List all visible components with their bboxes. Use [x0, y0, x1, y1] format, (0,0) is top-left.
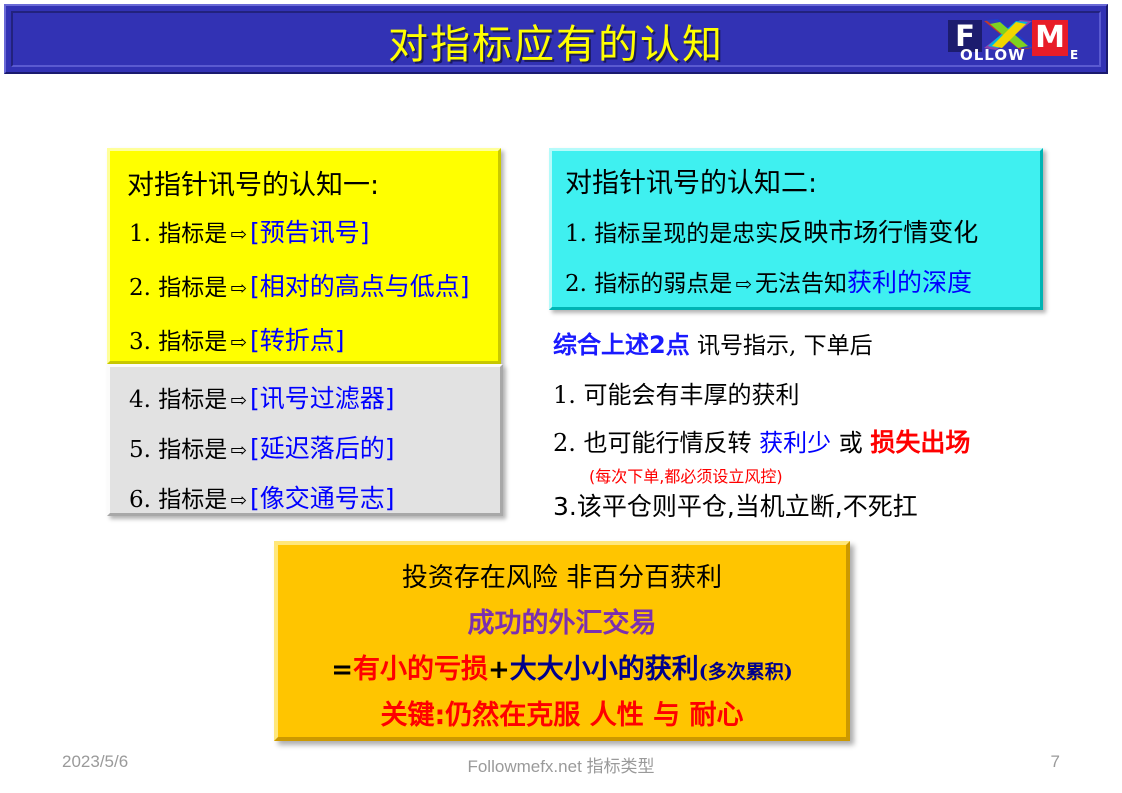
list-item-lead: 1. 指标呈现的是忠实 — [565, 214, 778, 248]
footer-center-label: Followmefx.net 指标类型 — [0, 752, 1122, 777]
gold-plus-sign: + — [488, 655, 510, 685]
notes-parenthetical: (每次下单,都必须设立风控) — [589, 463, 783, 487]
list-item-lead: 6. 指标是 — [129, 480, 227, 514]
list-item-emphasis: [相对的高点与低点] — [250, 267, 470, 303]
panel-summary-gold: 投资存在风险 非百分百获利 成功的外汇交易 =有小的亏损+大大小小的获利(多次累… — [274, 541, 850, 741]
notes-item-1: 1. 可能会有丰厚的获利 — [553, 375, 800, 410]
right-arrow-icon: ⇨ — [227, 330, 250, 354]
notes-item-3: 3.该平仓则平仓,当机立断,不死扛 — [553, 487, 918, 523]
panel-cognition-one: 对指针讯号的认知一: 1. 指标是 ⇨ [预告讯号] 2. 指标是 ⇨ [相对的… — [107, 148, 501, 364]
notes-item-2-blue: 获利少 — [759, 429, 831, 457]
gold-line-1: 投资存在风险 非百分百获利 — [278, 557, 846, 594]
notes-item-2: 2. 也可能行情反转 获利少 或 损失出场 — [553, 423, 970, 459]
list-item: 6. 指标是 ⇨ [像交通号志] — [129, 479, 395, 515]
gold-line-4: 关键:仍然在克服 人性 与 耐心 — [278, 693, 846, 732]
list-item-lead: 3. 指标是 — [129, 322, 227, 356]
right-arrow-icon: ⇨ — [227, 488, 250, 512]
list-item: 2. 指标是 ⇨ [相对的高点与低点] — [129, 267, 470, 303]
list-item-emphasis: 获利的深度 — [847, 263, 972, 299]
notes-summary-highlight: 综合上述2点 — [553, 331, 690, 359]
panel-yellow-heading: 对指针讯号的认知一: — [127, 163, 379, 202]
list-item-lead: 1. 指标是 — [129, 214, 227, 248]
list-item-mid: 无法告知 — [755, 264, 847, 298]
gold-equals-sign: = — [331, 655, 353, 685]
list-item: 1. 指标呈现的是忠实 反映市场行情变化 — [565, 213, 978, 249]
gold-profit-note: (多次累积) — [699, 661, 793, 683]
list-item: 4. 指标是 ⇨ [讯号过滤器] — [129, 379, 395, 415]
slide-title-banner: 对指标应有的认知 F M OLLOW E — [4, 4, 1108, 74]
right-arrow-icon: ⇨ — [227, 222, 250, 246]
notes-summary-rest: 讯号指示, 下单后 — [690, 333, 873, 359]
list-item-emphasis: [讯号过滤器] — [250, 379, 395, 415]
gold-loss-text: 有小的亏损 — [353, 654, 488, 685]
slide-footer: 2023/5/6 Followmefx.net 指标类型 7 — [0, 740, 1122, 793]
list-item: 3. 指标是 ⇨ [转折点] — [129, 321, 345, 357]
notes-item-2-conj: 或 — [831, 429, 870, 457]
gold-line-3: =有小的亏损+大大小小的获利(多次累积) — [278, 647, 846, 686]
panel-cognition-one-continued: 4. 指标是 ⇨ [讯号过滤器] 5. 指标是 ⇨ [延迟落后的] 6. 指标是… — [107, 364, 503, 516]
followme-logo: F M OLLOW E — [946, 18, 1096, 66]
list-item-lead: 5. 指标是 — [129, 430, 227, 464]
notes-summary-line: 综合上述2点 讯号指示, 下单后 — [553, 325, 873, 360]
page-title: 对指标应有的认知 — [6, 6, 1106, 76]
list-item: 2. 指标的弱点是 ⇨ 无法告知 获利的深度 — [565, 263, 972, 299]
panel-cyan-heading: 对指针讯号的认知二: — [565, 161, 817, 200]
list-item-lead: 4. 指标是 — [129, 380, 227, 414]
gold-profit-text: 大大小小的获利 — [510, 654, 699, 685]
gold-line-2: 成功的外汇交易 — [278, 601, 846, 640]
right-arrow-icon: ⇨ — [227, 388, 250, 412]
list-item-lead: 2. 指标是 — [129, 268, 227, 302]
notes-item-2-red: 损失出场 — [870, 428, 970, 457]
list-item-emphasis: [延迟落后的] — [250, 429, 395, 465]
right-arrow-icon: ⇨ — [227, 438, 250, 462]
list-item-lead: 2. 指标的弱点是 — [565, 264, 732, 298]
list-item-emphasis: [转折点] — [250, 321, 345, 357]
list-item: 1. 指标是 ⇨ [预告讯号] — [129, 213, 370, 249]
logo-wordmark: OLLOW — [960, 46, 1026, 64]
list-item-emphasis: [预告讯号] — [250, 213, 370, 249]
list-item-emphasis: [像交通号志] — [250, 479, 395, 515]
notes-item-2-lead: 2. 也可能行情反转 — [553, 429, 759, 457]
footer-page-number: 7 — [1051, 752, 1060, 772]
logo-e-letter: E — [1070, 48, 1078, 62]
list-item: 5. 指标是 ⇨ [延迟落后的] — [129, 429, 395, 465]
right-arrow-icon: ⇨ — [227, 276, 250, 300]
panel-cognition-two: 对指针讯号的认知二: 1. 指标呈现的是忠实 反映市场行情变化 2. 指标的弱点… — [549, 148, 1043, 310]
list-item-strong: 反映市场行情变化 — [778, 213, 978, 249]
logo-m-letter: M — [1032, 20, 1068, 56]
right-arrow-icon: ⇨ — [732, 272, 755, 296]
